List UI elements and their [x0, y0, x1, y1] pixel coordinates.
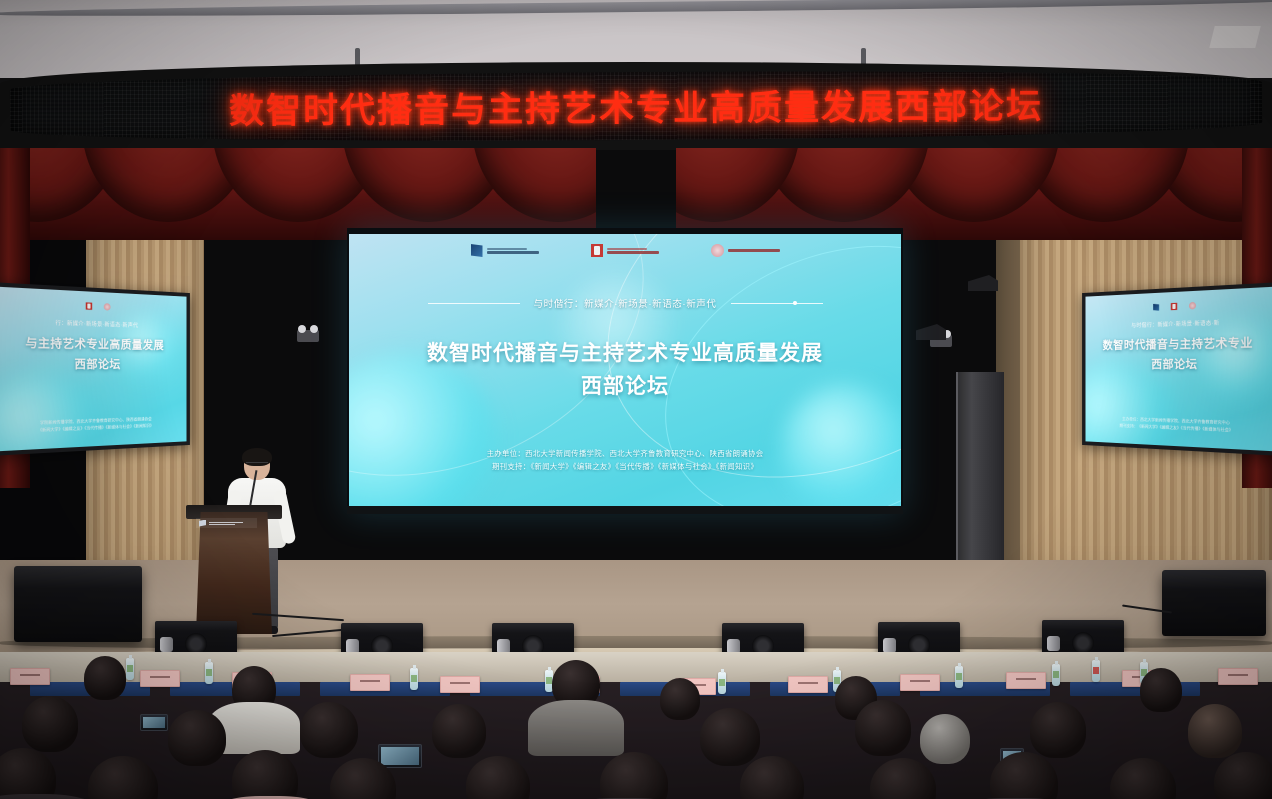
- slide-kicker-row: 与时偕行：新媒介·新场景·新语态·新声代: [349, 296, 901, 310]
- led-banner-text: 数智时代播音与主持艺术专业高质量发展西部论坛: [10, 77, 1262, 136]
- logo-text-lines: [728, 249, 780, 252]
- water-bottle: [1052, 664, 1060, 686]
- shaanxi-recitation-association-logo: [711, 244, 780, 257]
- side-slide-logos: [44, 301, 148, 313]
- side-slide-title: 数智时代播音与主持艺术专业 西部论坛: [1085, 334, 1272, 376]
- association-mark-icon: [104, 303, 111, 310]
- institute-mark-icon: [85, 302, 91, 309]
- audience-head: [600, 752, 668, 799]
- audience-head: [1110, 758, 1176, 799]
- institute-mark-icon: [1171, 303, 1177, 310]
- slide-kicker-text: 与时偕行：新媒介·新场景·新语态·新声代: [534, 296, 717, 310]
- audience-head: [168, 710, 226, 766]
- name-placard: [350, 674, 390, 691]
- audience-head: [920, 714, 970, 764]
- smartphone[interactable]: [140, 714, 168, 731]
- slide-footer-journals: 期刊支持：《新闻大学》《编辑之友》《当代传播》《新媒体与社会》《新闻知识》: [349, 461, 901, 474]
- audience-area: [0, 652, 1272, 799]
- audience-head: [1030, 702, 1086, 758]
- audience-head: [1188, 704, 1242, 758]
- side-slide-title: 与主持艺术专业高质量发展 西部论坛: [0, 334, 187, 376]
- divider-line-right: [731, 303, 823, 304]
- slide-decoration-orb: [0, 372, 100, 451]
- side-slide-title-line-2: 西部论坛: [1085, 355, 1272, 376]
- ceiling-rail: [0, 0, 1272, 19]
- glasses-icon: [246, 462, 268, 468]
- side-slide-title-line-2: 西部论坛: [0, 355, 187, 376]
- stage-valance-right: [676, 148, 1272, 240]
- slide-decoration-orb: [1085, 362, 1175, 451]
- name-placard: [140, 670, 180, 687]
- led-banner: 数智时代播音与主持艺术专业高质量发展西部论坛: [10, 68, 1262, 144]
- side-slide-title-line-1: 数智时代播音与主持艺术专业: [1085, 334, 1272, 357]
- audience-desk-row: [0, 652, 1272, 682]
- audience-head: [300, 702, 358, 758]
- stage-valance-left: [0, 148, 596, 240]
- name-placard: [10, 668, 50, 685]
- water-bottle: [205, 662, 213, 684]
- presentation-slide: 与时偕行：新媒介·新场景·新语态·新声代 数智时代播音与主持艺术专业高质量发展 …: [349, 234, 901, 506]
- university-mark-icon: [471, 244, 483, 257]
- side-slide-title-line-1: 与主持艺术专业高质量发展: [0, 334, 187, 357]
- audience-head: [466, 756, 530, 799]
- side-screen-right: 与时偕行：新媒介·新场景·新语态·新 数智时代播音与主持艺术专业 西部论坛 主办…: [1082, 282, 1272, 456]
- water-bottle: [410, 668, 418, 690]
- audience-head: [700, 708, 760, 766]
- subwoofer-speaker: [1162, 570, 1266, 636]
- audience-head: [0, 748, 56, 799]
- name-placard: [440, 676, 480, 693]
- audience-head: [1140, 668, 1182, 712]
- logo-text-lines: [487, 248, 539, 254]
- name-placard: [788, 676, 828, 693]
- association-mark-icon: [711, 244, 724, 257]
- ceiling-vent: [1209, 26, 1260, 48]
- northwest-university-journalism-logo: [471, 244, 539, 257]
- slide-organizer-logos: [349, 244, 901, 257]
- name-placard: [1006, 672, 1046, 689]
- institute-mark-icon: [591, 244, 603, 257]
- water-bottle: [955, 666, 963, 688]
- main-projection-screen: 与时偕行：新媒介·新场景·新语态·新声代 数智时代播音与主持艺术专业高质量发展 …: [347, 228, 903, 514]
- audience-shoulders: [528, 700, 624, 756]
- stage-side-door[interactable]: [956, 372, 1004, 590]
- side-screen-left: 行：新媒介·新场景·新语态·新声代 与主持艺术专业高质量发展 西部论坛 学院新闻…: [0, 282, 190, 456]
- podium-name-plate: [196, 518, 257, 528]
- audience-head: [660, 678, 700, 720]
- water-bottle: [126, 658, 134, 680]
- university-mark-icon: [1153, 304, 1159, 311]
- slide-footer: 主办单位：西北大学新闻传播学院、西北大学齐鲁教育研究中心、陕西省朗诵协会 期刊支…: [349, 448, 901, 474]
- name-placard: [1218, 668, 1258, 685]
- side-slide-right: 与时偕行：新媒介·新场景·新语态·新 数智时代播音与主持艺术专业 西部论坛 主办…: [1085, 287, 1272, 452]
- podium-plate-text: [209, 522, 243, 525]
- association-mark-icon: [1189, 302, 1196, 310]
- slide-title-line-1: 数智时代播音与主持艺术专业高质量发展: [349, 338, 901, 371]
- podium-logo-icon: [199, 520, 206, 527]
- side-slide-left: 行：新媒介·新场景·新语态·新声代 与主持艺术专业高质量发展 西部论坛 学院新闻…: [0, 287, 187, 452]
- side-slide-logos: [1124, 301, 1228, 313]
- slide-title: 数智时代播音与主持艺术专业高质量发展 西部论坛: [349, 338, 901, 403]
- red-book-institute-logo: [591, 244, 659, 257]
- slide-footer-organizers: 主办单位：西北大学新闻传播学院、西北大学齐鲁教育研究中心、陕西省朗诵协会: [349, 448, 901, 461]
- audience-head: [84, 656, 126, 700]
- water-bottle: [1092, 660, 1100, 682]
- smartphone[interactable]: [378, 744, 422, 768]
- divider-line-left: [428, 303, 520, 304]
- audience-head: [88, 756, 158, 799]
- logo-text-lines: [607, 248, 659, 254]
- audience-head: [22, 696, 78, 752]
- podium: [196, 512, 272, 634]
- audience-head: [232, 750, 298, 799]
- emergency-light-icon: [297, 330, 319, 342]
- audience-shoulders: [0, 794, 100, 799]
- water-bottle: [718, 672, 726, 694]
- audience-head: [432, 704, 486, 758]
- name-placard: [900, 674, 940, 691]
- audience-head: [1214, 752, 1272, 799]
- auditorium-scene: 数智时代播音与主持艺术专业高质量发展西部论坛: [0, 0, 1272, 799]
- subwoofer-speaker: [14, 566, 142, 642]
- slide-title-line-2: 西部论坛: [349, 371, 901, 404]
- audience-head: [740, 756, 804, 799]
- audience-head: [870, 758, 936, 799]
- audience-head: [855, 700, 911, 756]
- screen-bezel: [347, 506, 903, 514]
